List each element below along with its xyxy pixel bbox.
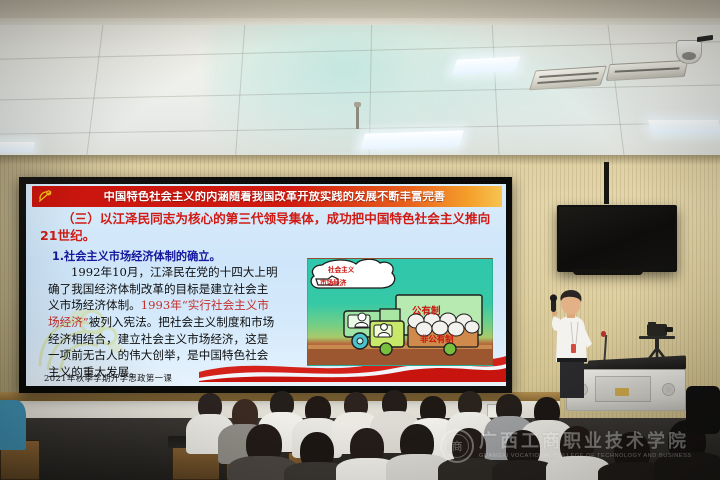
ceiling-soffit-edge: [0, 18, 720, 25]
lectern-speaker-grille: [662, 383, 675, 396]
slide-heading: （三）以江泽民同志为核心的第三代领导集体，成功把中国特色社会主义推向21世纪。: [40, 211, 496, 244]
ceiling-soffit: [0, 0, 720, 20]
projection-screen[interactable]: 中国特色社会主义的内涵随着我国改革开放实践的发展不断丰富完善 （三）以江泽民同志…: [19, 177, 512, 393]
ac-vent: [606, 60, 688, 81]
ceiling-mounted-display[interactable]: [557, 205, 677, 272]
cartoon-cloud-line2: 市场经济: [320, 277, 346, 287]
slide-cartoon-illustration: 社会主义 市场经济 公有制 非公有制: [307, 258, 493, 366]
audience-person-body: [0, 400, 26, 450]
lectern-plaque: [615, 388, 629, 396]
slide-footer-text: 2021年秋季学期开学思政第一课: [44, 372, 172, 384]
ceiling-sprinkler-icon: [356, 105, 359, 129]
presentation-slide: 中国特色社会主义的内涵随着我国改革开放实践的发展不断丰富完善 （三）以江泽民同志…: [26, 184, 506, 386]
tv-chin: [573, 269, 643, 275]
audience-person-body: [654, 452, 720, 480]
slide-banner-text: 中国特色社会主义的内涵随着我国改革开放实践的发展不断丰富完善: [57, 191, 502, 202]
cartoon-truck-label-public: 公有制: [412, 303, 441, 317]
ceiling-light: [648, 120, 720, 134]
cpc-emblem-icon: [35, 188, 57, 205]
lecture-hall-screenshot: 中国特色社会主义的内涵随着我国改革开放实践的发展不断丰富完善 （三）以江泽民同志…: [0, 0, 720, 480]
dome-camera-icon: [676, 40, 702, 64]
tv-ceiling-mount: [604, 162, 609, 204]
presenter: [540, 288, 602, 398]
cartoon-cloud-line1: 社会主义: [328, 264, 354, 274]
cartoon-truck-label-nonpublic: 非公有制: [420, 333, 454, 345]
av-equipment: [686, 386, 720, 434]
ceiling-seam: [86, 10, 105, 160]
cartoon-graphic: [308, 259, 493, 366]
slide-title-banner: 中国特色社会主义的内涵随着我国改革开放实践的发展不断丰富完善: [32, 186, 502, 207]
ceiling-light: [0, 142, 35, 152]
ceiling: [0, 0, 720, 160]
slide-body-text: 1992年10月，江泽民在党的十四大上明确了我国经济体制改革的目标是建立社会主义…: [48, 264, 278, 381]
slide-subheading: 1.社会主义市场经济体制的确立。: [52, 251, 221, 262]
